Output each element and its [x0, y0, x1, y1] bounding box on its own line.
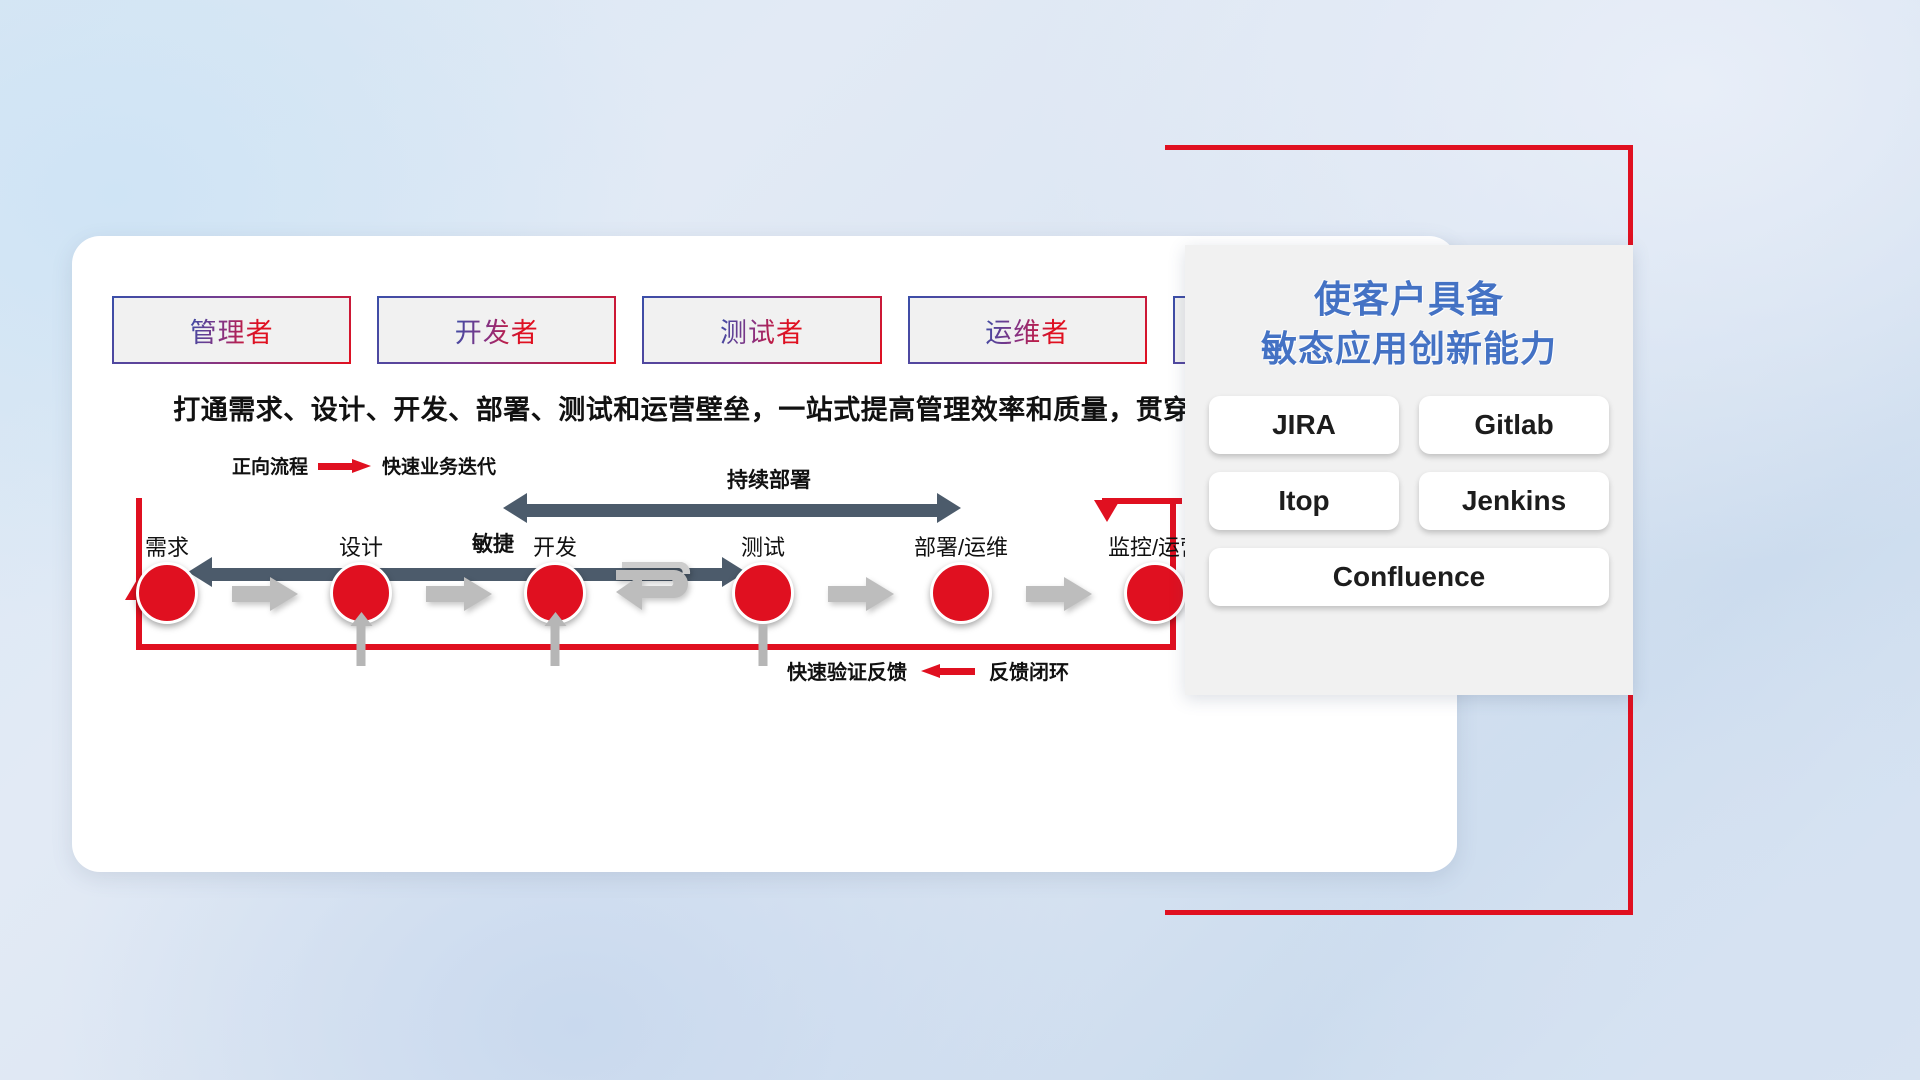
- legend-forward-target-label: 快速业务迭代: [382, 452, 496, 479]
- pipeline-node-label: 设计: [339, 530, 383, 562]
- tools-title-line-1: 使客户具备: [1197, 275, 1621, 325]
- pipeline-node-label: 测试: [741, 530, 785, 562]
- role-label: 开发者: [455, 311, 539, 350]
- red-arrow-right-icon: [318, 459, 372, 473]
- role-label: 测试者: [720, 311, 804, 350]
- pipeline-node-develop[interactable]: 开发: [524, 562, 586, 624]
- pipeline-node-circle: [732, 562, 794, 624]
- pipeline-node-circle: [930, 562, 992, 624]
- design-feedback-stem: [357, 624, 366, 666]
- continuous-deploy-caption: 持续部署: [727, 464, 811, 494]
- role-label: 管理者: [190, 311, 274, 350]
- tools-title-line-2: 敏态应用创新能力: [1197, 325, 1621, 374]
- flow-arrow-4-icon: [1026, 577, 1092, 611]
- red-arrow-left-icon: [921, 664, 975, 678]
- pipeline-node-circle: [1124, 562, 1186, 624]
- role-box-manager[interactable]: 管理者: [112, 296, 351, 364]
- test-feedback-stem: [759, 624, 768, 666]
- tool-chip-itop[interactable]: Itop: [1209, 472, 1399, 530]
- pipeline-node-requirements[interactable]: 需求: [136, 562, 198, 624]
- ci-loop-icon: [612, 554, 704, 616]
- legend-forward-flow: 正向流程 快速业务迭代: [232, 452, 496, 479]
- pipeline-node-circle: [136, 562, 198, 624]
- legend-feedback-loop: 快速验证反馈 反馈闭环: [787, 656, 1069, 685]
- tool-chip-grid: JIRA Gitlab Itop Jenkins Confluence: [1197, 396, 1621, 606]
- legend-feedback-source-label: 快速验证反馈: [787, 656, 907, 685]
- role-box-tester[interactable]: 测试者: [642, 296, 881, 364]
- pipeline-node-deploy-ops[interactable]: 部署/运维: [930, 562, 992, 624]
- tool-chip-jira[interactable]: JIRA: [1209, 396, 1399, 454]
- legend-forward-source-label: 正向流程: [232, 452, 308, 479]
- tool-chip-jenkins[interactable]: Jenkins: [1419, 472, 1609, 530]
- legend-feedback-target-label: 反馈闭环: [989, 656, 1069, 685]
- pipeline-node-design[interactable]: 设计: [330, 562, 392, 624]
- red-loop-arrow-down-icon: [1094, 500, 1120, 522]
- flow-arrow-2-icon: [426, 577, 492, 611]
- pipeline-node-test[interactable]: 测试: [732, 562, 794, 624]
- flow-arrow-1-icon: [232, 577, 298, 611]
- flow-arrow-3-icon: [828, 577, 894, 611]
- tools-panel-title: 使客户具备 敏态应用创新能力: [1197, 275, 1621, 374]
- pipeline-node-label: 部署/运维: [914, 530, 1008, 562]
- role-label: 运维者: [985, 311, 1069, 350]
- pipeline-node-label: 开发: [533, 530, 577, 562]
- role-box-developer[interactable]: 开发者: [377, 296, 616, 364]
- tool-chip-gitlab[interactable]: Gitlab: [1419, 396, 1609, 454]
- tool-chip-confluence[interactable]: Confluence: [1209, 548, 1609, 606]
- tools-panel: 使客户具备 敏态应用创新能力 JIRA Gitlab Itop Jenkins …: [1185, 245, 1633, 695]
- pipeline-node-monitor-operate[interactable]: 监控/运营: [1124, 562, 1186, 624]
- pipeline-node-label: 需求: [145, 530, 189, 562]
- role-box-ops[interactable]: 运维者: [908, 296, 1147, 364]
- develop-feedback-stem: [551, 624, 560, 666]
